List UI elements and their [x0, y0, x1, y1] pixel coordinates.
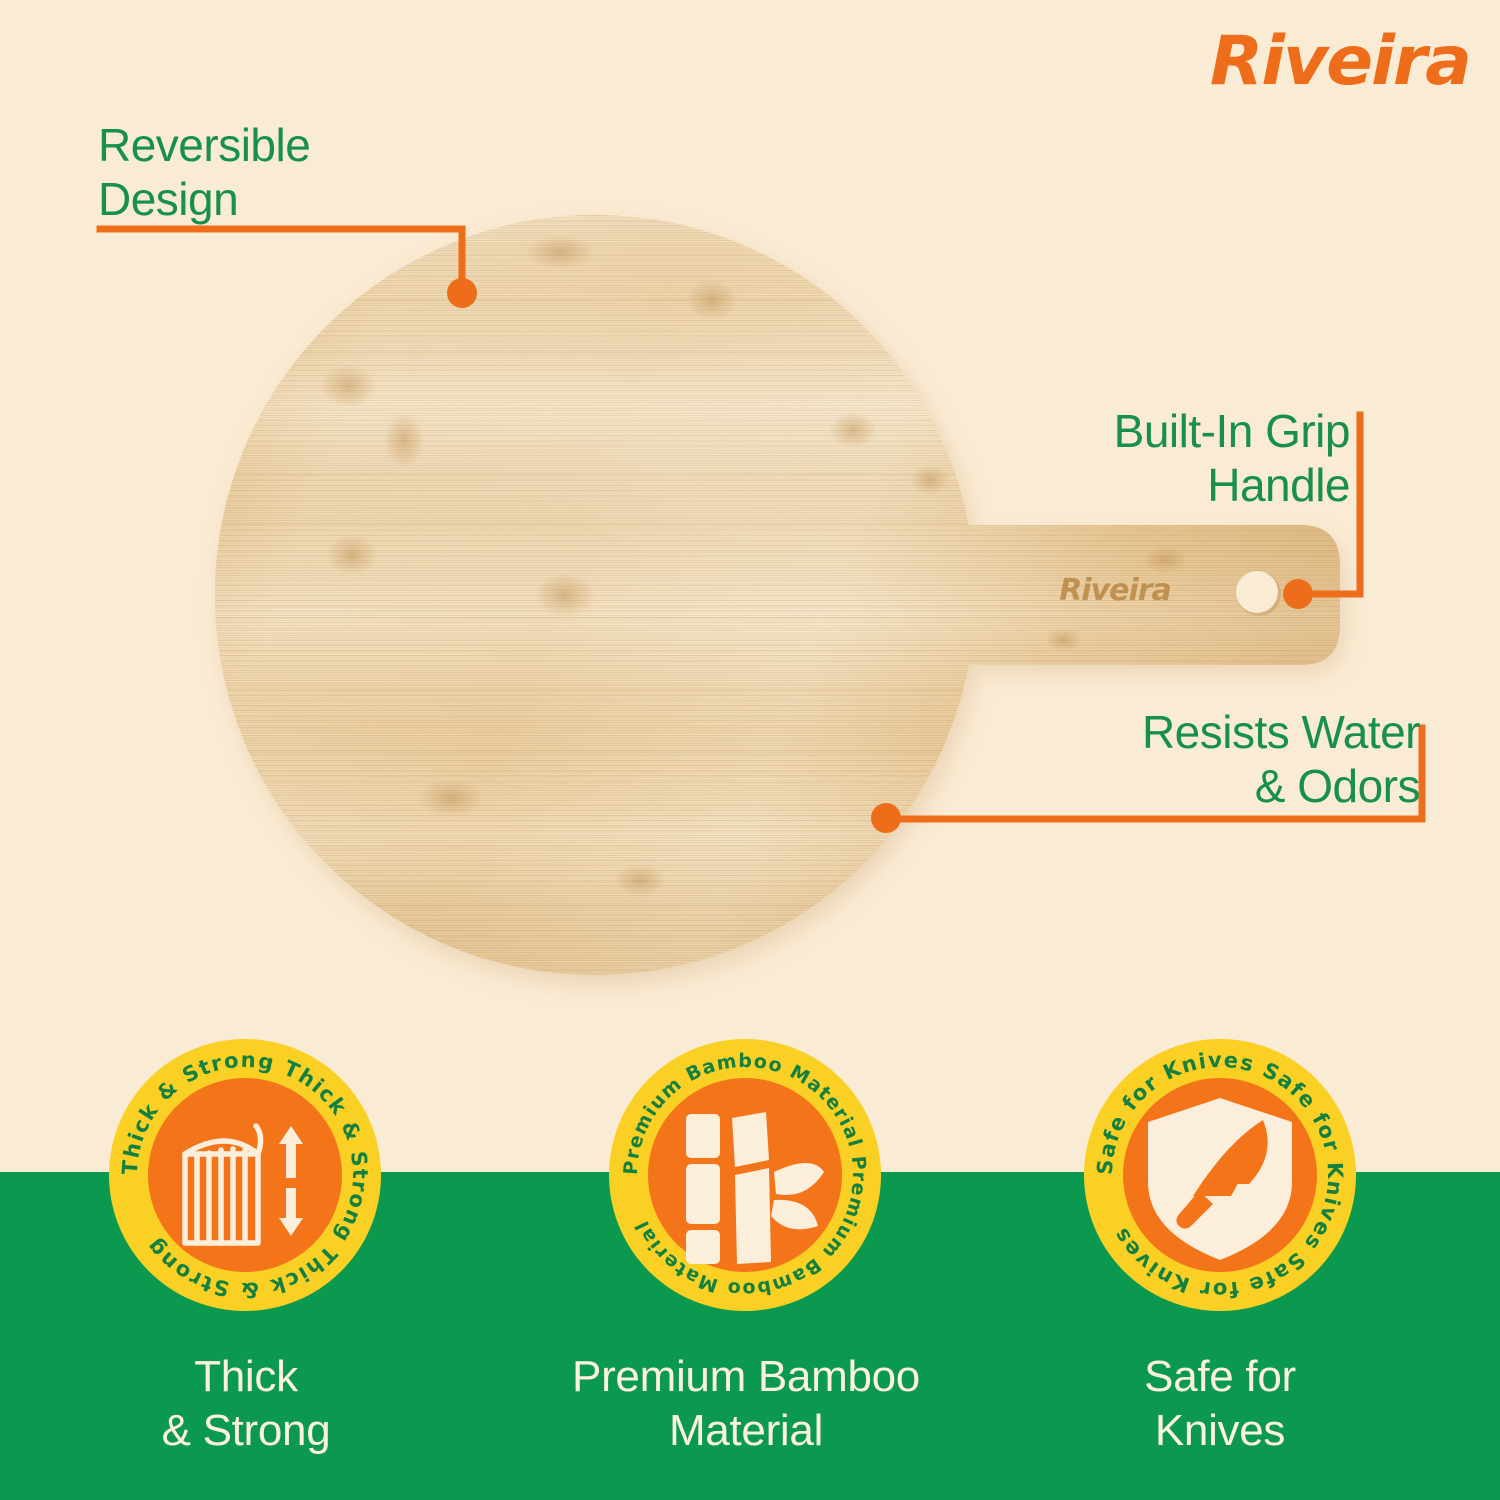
callout-label-resists-water-and-odors: Resists Water & Odors — [1142, 705, 1420, 814]
callout-dot-resists-water-and-odors — [871, 803, 901, 833]
badge-thick-and-strong: Thick & Strong Thick & Strong Thick & St… — [106, 1036, 384, 1314]
hanging-hole — [1236, 571, 1281, 616]
product-infographic: Riveira — [0, 0, 1500, 1500]
badge-caption-premium-bamboo-material: Premium Bamboo Material — [500, 1350, 992, 1457]
callout-label-reversible-design: Reversible Design — [98, 118, 310, 227]
callout-dot-built-in-grip-handle — [1283, 579, 1313, 609]
badge-caption-safe-for-knives: Safe for Knives — [1045, 1350, 1395, 1457]
leader-line-reversible-design — [100, 229, 462, 286]
badge-safe-for-knives: Safe for Knives Safe for Knives Safe for… — [1081, 1036, 1359, 1314]
callout-dot-reversible-design — [447, 278, 477, 308]
badge-caption-thick-and-strong: Thick & Strong — [60, 1350, 432, 1457]
engraved-brand-logo: Riveira — [1059, 573, 1171, 608]
badge-premium-bamboo-material: Premium Bamboo Material Premium Bamboo M… — [606, 1036, 884, 1314]
bamboo-node-marks — [320, 235, 1187, 896]
callout-label-built-in-grip-handle: Built-In Grip Handle — [1114, 404, 1350, 513]
brand-logo: Riveira — [1210, 28, 1470, 96]
